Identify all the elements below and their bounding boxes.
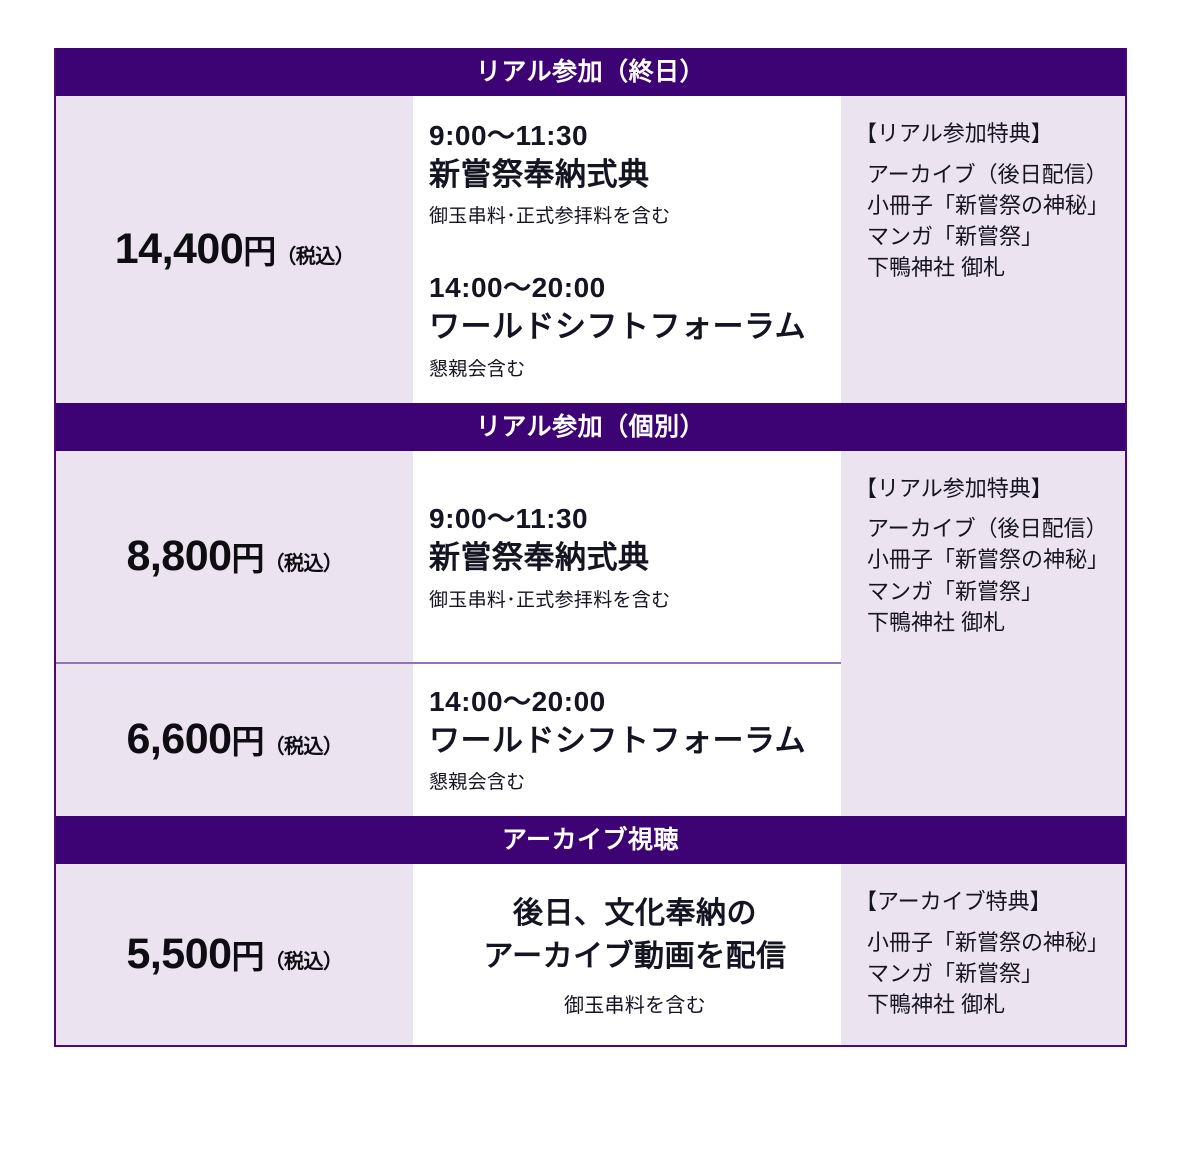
detail-note: 懇親会含む [429, 767, 841, 794]
price: 6,600円（税込） [126, 715, 342, 764]
price-amount: 6,600 [126, 715, 231, 763]
perks-list-item: 小冊子「新嘗祭の神秘」 [867, 190, 1117, 221]
detail-cell: 14:00〜20:00ワールドシフトフォーラム懇親会含む [413, 662, 841, 816]
price: 8,800円（税込） [126, 532, 342, 581]
detail-time: 9:00〜11:30 [429, 118, 841, 153]
detail-cell: 9:00〜11:30新嘗祭奉納式典御玉串料･正式参拝料を含む [413, 451, 841, 663]
price-currency-unit: 円 [232, 723, 265, 760]
detail-time: 14:00〜20:00 [429, 270, 841, 305]
perks-list-item: 下鴨神社 御札 [867, 989, 1117, 1020]
detail-note: 御玉串料･正式参拝料を含む [429, 201, 841, 228]
detail-time: 14:00〜20:00 [429, 684, 841, 719]
price-currency-unit: 円 [243, 233, 276, 270]
perks-list-item: 下鴨神社 御札 [867, 607, 1117, 638]
price-cell: 14,400円（税込） [56, 96, 413, 403]
detail-cell: 9:00〜11:30新嘗祭奉納式典御玉串料･正式参拝料を含む14:00〜20:0… [413, 96, 841, 403]
detail-block: 9:00〜11:30新嘗祭奉納式典御玉串料･正式参拝料を含む [429, 501, 841, 611]
perks-list-item: 小冊子「新嘗祭の神秘」 [867, 927, 1117, 958]
plan-row: 8,800円（税込）9:00〜11:30新嘗祭奉納式典御玉串料･正式参拝料を含む… [56, 451, 1125, 663]
perks-title: 【リアル参加特典】 [855, 120, 1117, 149]
price-tax-note: （税込） [265, 951, 343, 973]
perks-list-item: マンガ「新嘗祭」 [867, 958, 1117, 989]
detail-cell: 後日、文化奉納の アーカイブ動画を配信御玉串料を含む [413, 864, 841, 1044]
price-currency-unit: 円 [232, 938, 265, 975]
perks-cell: 【リアル参加特典】アーカイブ（後日配信）小冊子「新嘗祭の神秘」マンガ「新嘗祭」下… [841, 451, 1125, 663]
price-tax-note: （税込） [265, 736, 343, 758]
price-tax-note: （税込） [276, 246, 354, 268]
price-amount: 5,500 [126, 930, 231, 978]
price-cell: 8,800円（税込） [56, 451, 413, 663]
perks-empty [855, 686, 1117, 696]
perks-list-item: アーカイブ（後日配信） [867, 513, 1117, 544]
price-cell: 6,600円（税込） [56, 662, 413, 816]
detail-block: 14:00〜20:00ワールドシフトフォーラム懇親会含む [429, 270, 841, 380]
perks-cell [841, 662, 1125, 816]
detail-block: 14:00〜20:00ワールドシフトフォーラム懇親会含む [429, 684, 841, 794]
perks-title: 【リアル参加特典】 [855, 475, 1117, 504]
detail-note: 懇親会含む [429, 354, 841, 381]
price-amount: 8,800 [126, 532, 231, 580]
price: 5,500円（税込） [126, 930, 342, 979]
perks-list-item: マンガ「新嘗祭」 [867, 221, 1117, 252]
detail-time: 9:00〜11:30 [429, 501, 841, 536]
detail-note: 御玉串料･正式参拝料を含む [429, 585, 841, 612]
pricing-table: リアル参加（終日）14,400円（税込）9:00〜11:30新嘗祭奉納式典御玉串… [54, 48, 1127, 1047]
detail-note: 御玉串料を含む [429, 989, 841, 1018]
perks-list-item: アーカイブ（後日配信） [867, 159, 1117, 190]
detail-title: 新嘗祭奉納式典 [429, 155, 841, 195]
perks-cell: 【アーカイブ特典】小冊子「新嘗祭の神秘」マンガ「新嘗祭」下鴨神社 御札 [841, 864, 1125, 1044]
perks-cell: 【リアル参加特典】アーカイブ（後日配信）小冊子「新嘗祭の神秘」マンガ「新嘗祭」下… [841, 96, 1125, 403]
perks-list-item: マンガ「新嘗祭」 [867, 576, 1117, 607]
perks-title: 【アーカイブ特典】 [855, 888, 1117, 917]
section-header: リアル参加（個別） [56, 403, 1125, 451]
price: 14,400円（税込） [115, 225, 355, 274]
plan-row: 6,600円（税込）14:00〜20:00ワールドシフトフォーラム懇親会含む [56, 662, 1125, 816]
detail-title: 後日、文化奉納の アーカイブ動画を配信 [429, 893, 841, 978]
detail-title: ワールドシフトフォーラム [429, 307, 841, 347]
perks-list-item: 下鴨神社 御札 [867, 252, 1117, 283]
section-header: アーカイブ視聴 [56, 816, 1125, 864]
detail-title: 新嘗祭奉納式典 [429, 538, 841, 578]
price-currency-unit: 円 [232, 540, 265, 577]
detail-block: 9:00〜11:30新嘗祭奉納式典御玉串料･正式参拝料を含む [429, 118, 841, 228]
section-header: リアル参加（終日） [56, 48, 1125, 96]
perks-list: 小冊子「新嘗祭の神秘」マンガ「新嘗祭」下鴨神社 御札 [855, 927, 1117, 1021]
perks-list: アーカイブ（後日配信）小冊子「新嘗祭の神秘」マンガ「新嘗祭」下鴨神社 御札 [855, 513, 1117, 638]
price-tax-note: （税込） [265, 553, 343, 575]
detail-title: ワールドシフトフォーラム [429, 721, 841, 761]
perks-list-item: 小冊子「新嘗祭の神秘」 [867, 544, 1117, 575]
plan-row: 5,500円（税込）後日、文化奉納の アーカイブ動画を配信御玉串料を含む【アーカ… [56, 864, 1125, 1044]
plan-row: 14,400円（税込）9:00〜11:30新嘗祭奉納式典御玉串料･正式参拝料を含… [56, 96, 1125, 403]
perks-list: アーカイブ（後日配信）小冊子「新嘗祭の神秘」マンガ「新嘗祭」下鴨神社 御札 [855, 159, 1117, 284]
price-cell: 5,500円（税込） [56, 864, 413, 1044]
price-amount: 14,400 [115, 225, 244, 273]
detail-block: 後日、文化奉納の アーカイブ動画を配信御玉串料を含む [429, 891, 841, 1017]
